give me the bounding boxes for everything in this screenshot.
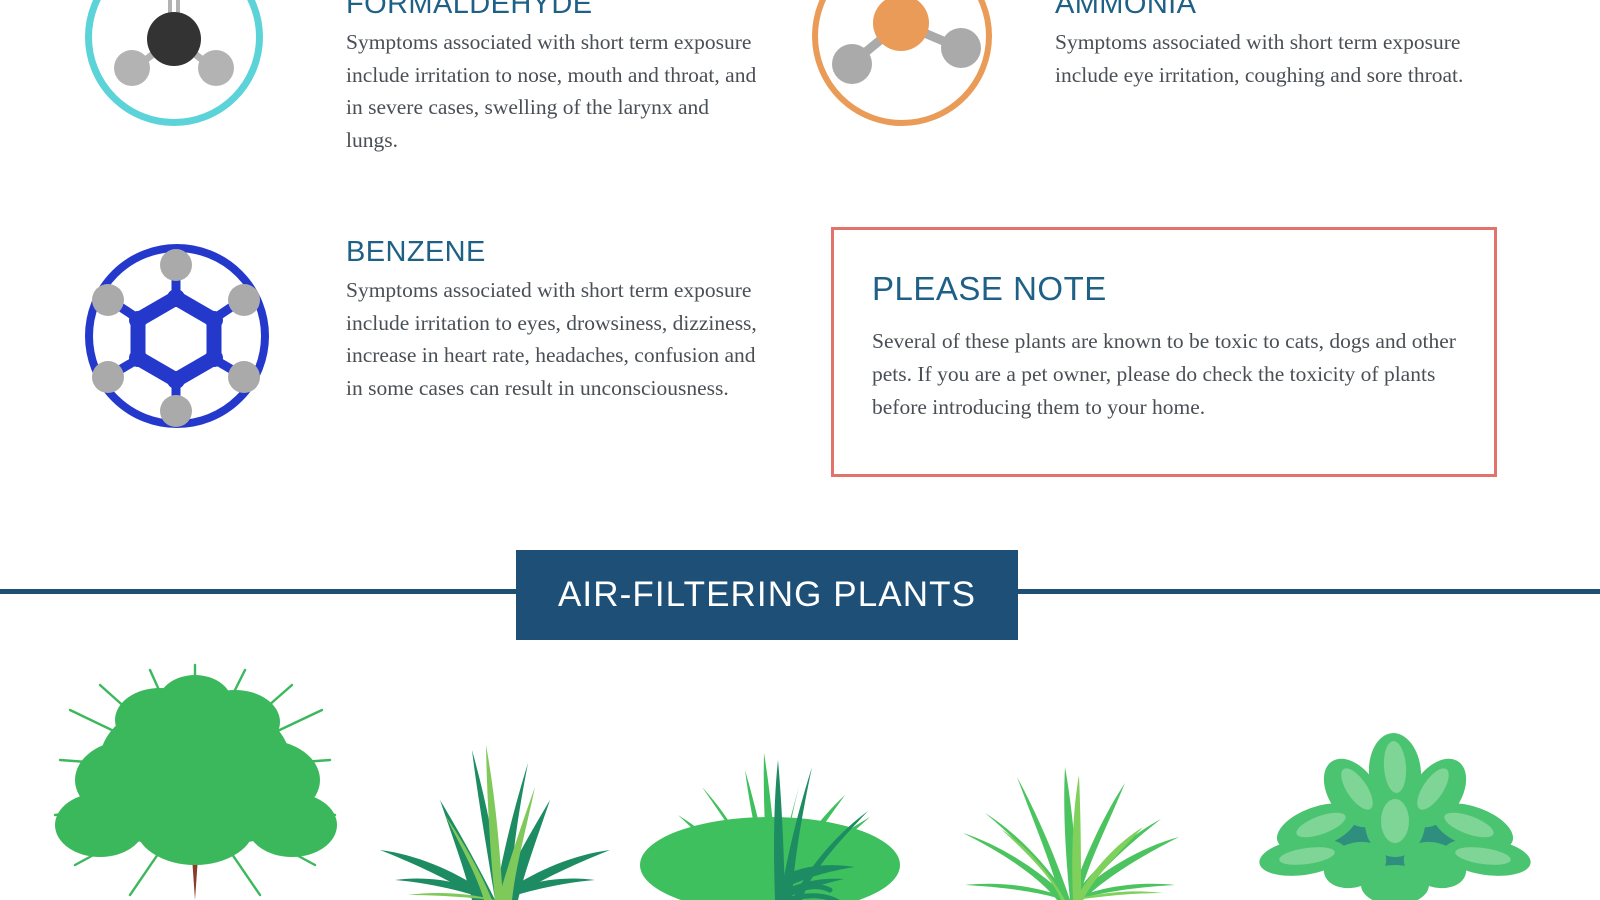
pollutant-body-benzene: Symptoms associated with short term expo… bbox=[346, 274, 768, 405]
plant-spider-plant bbox=[925, 735, 1215, 900]
please-note-body: Several of these plants are known to be … bbox=[872, 325, 1456, 424]
card-text-ammonia: AMMONIA Symptoms associated with short t… bbox=[1055, 0, 1490, 91]
section-banner-label: AIR-FILTERING PLANTS bbox=[558, 575, 976, 615]
section-banner-air-filtering-plants: AIR-FILTERING PLANTS bbox=[516, 550, 1018, 640]
benzene-structure bbox=[78, 238, 273, 428]
benzene-molecule-icon bbox=[78, 238, 273, 428]
please-note-title: PLEASE NOTE bbox=[872, 270, 1494, 308]
pollutant-body-ammonia: Symptoms associated with short term expo… bbox=[1055, 26, 1490, 91]
formaldehyde-molecule-icon bbox=[78, 0, 273, 128]
plant-dumb-cane bbox=[1245, 715, 1545, 900]
card-text-formaldehyde: FORMALDEHYDE Symptoms associated with sh… bbox=[346, 0, 758, 157]
formaldehyde-structure bbox=[78, 0, 273, 128]
pollutant-card-ammonia: AMMONIA Symptoms associated with short t… bbox=[800, 0, 1490, 128]
card-text-benzene: BENZENE Symptoms associated with short t… bbox=[346, 238, 768, 405]
pollutant-title-benzene: BENZENE bbox=[346, 238, 768, 267]
plant-aloe-vera bbox=[360, 705, 630, 900]
pollutant-title-ammonia: AMMONIA bbox=[1055, 0, 1490, 19]
plants-illustration-strip bbox=[0, 650, 1600, 900]
pollutant-card-benzene: BENZENE Symptoms associated with short t… bbox=[78, 238, 768, 428]
please-note-box: PLEASE NOTE Several of these plants are … bbox=[831, 227, 1497, 477]
plant-areca-palm bbox=[30, 650, 360, 900]
ammonia-molecule-icon bbox=[800, 0, 995, 128]
pollutant-body-formaldehyde: Symptoms associated with short term expo… bbox=[346, 26, 758, 157]
plant-boston-fern bbox=[630, 715, 910, 900]
pollutant-title-formaldehyde: FORMALDEHYDE bbox=[346, 0, 758, 19]
pollutant-card-formaldehyde: FORMALDEHYDE Symptoms associated with sh… bbox=[78, 0, 758, 157]
ammonia-structure bbox=[800, 0, 995, 128]
